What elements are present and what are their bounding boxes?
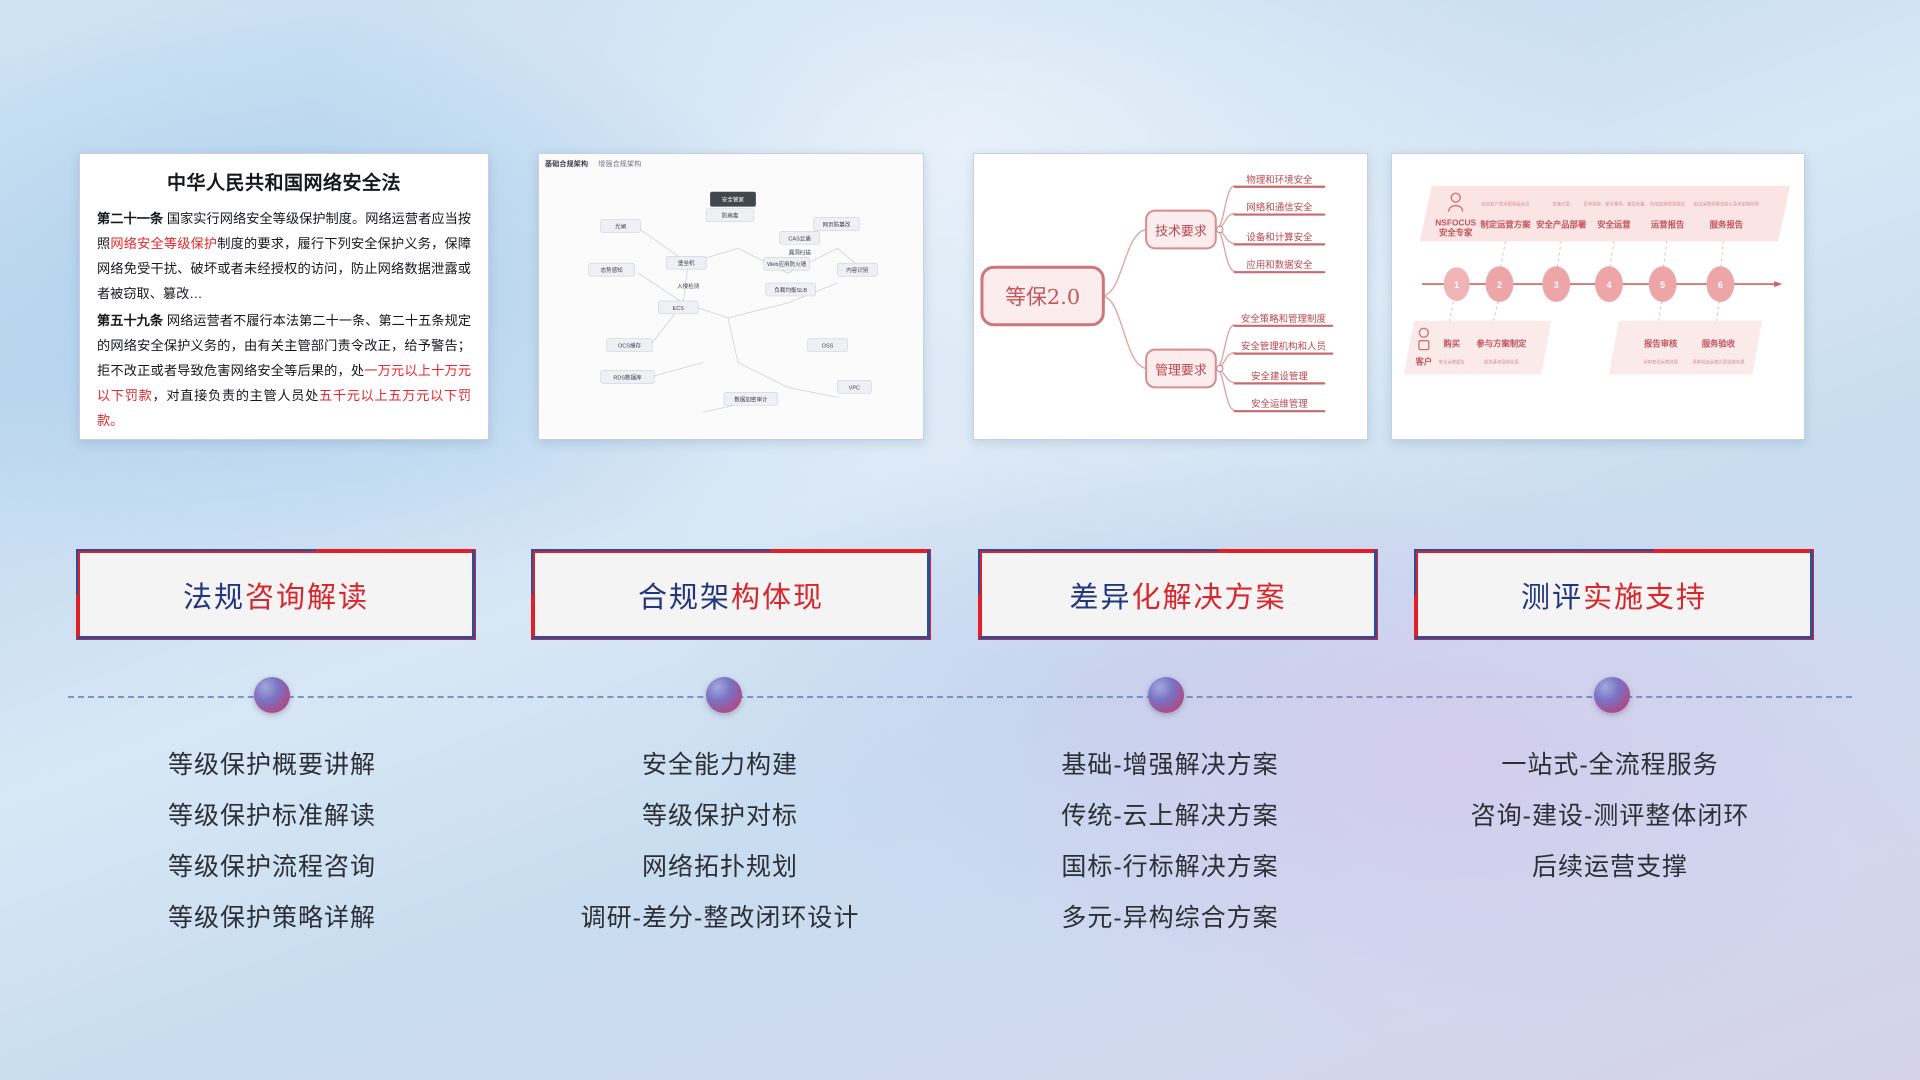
mindmap-leaf-0-3: 应用和数据安全 xyxy=(1246,259,1313,271)
card-mindmap: 等保2.0 技术要求 管理要求 物理和环境安全 网络和通信安全 设备和计算安全 … xyxy=(973,153,1368,440)
architecture-diagram: 基础合规架构增强合规架构 xyxy=(539,154,923,439)
svg-text:OSS: OSS xyxy=(822,344,834,350)
svg-text:防病毒: 防病毒 xyxy=(722,212,739,220)
timeline-marker-2[interactable] xyxy=(706,677,742,713)
timeline-svg: 1 2 3 4 5 6 NSFOCUS 安全专家 xyxy=(1392,154,1804,439)
timeline-bottom-sub-3: 评审验证运营方案验收效果 xyxy=(1692,359,1745,366)
list-item: 后续运营支撑 xyxy=(1400,842,1820,893)
mindmap-branch-label-1: 管理要求 xyxy=(1155,363,1207,378)
customer-role-label: 客户 xyxy=(1414,357,1432,367)
timeline-top-title-4: 服务报告 xyxy=(1710,219,1744,229)
timeline-marker-3[interactable] xyxy=(1148,677,1184,713)
detail-list-1: 等级保护概要讲解 等级保护标准解读 等级保护流程咨询 等级保护策略详解 xyxy=(62,740,482,944)
list-item: 网络拓扑规划 xyxy=(510,842,930,893)
svg-text:堡垒机: 堡垒机 xyxy=(678,259,695,267)
timeline-top-sub-0: 结合客户实求配明后台员 xyxy=(1481,201,1530,208)
list-item: 基础-增强解决方案 xyxy=(960,740,1380,791)
category-box-1[interactable]: 法规咨询解读 xyxy=(76,549,476,640)
timeline-step-4: 4 xyxy=(1606,280,1611,290)
vendor-role-line2: 安全专家 xyxy=(1439,227,1473,237)
category-label-2-blue: 合规架 xyxy=(638,582,731,614)
law-content: 中华人民共和国网络安全法 第二十一条 国家实行网络安全等级保护制度。网络运营者应… xyxy=(80,154,488,440)
list-item: 等级保护策略详解 xyxy=(62,893,482,944)
mindmap-leaf-0-1: 网络和通信安全 xyxy=(1246,202,1313,214)
timeline-top-title-0: 制定运营方案 xyxy=(1480,219,1531,229)
list-item: 等级保护概要讲解 xyxy=(62,740,482,791)
law-article-59-label: 第五十九条 xyxy=(97,313,163,328)
svg-text:态势感知: 态势感知 xyxy=(601,266,624,274)
category-label-3-blue: 差异 xyxy=(1069,582,1131,614)
svg-text:安全管家: 安全管家 xyxy=(722,196,745,204)
timeline-step-2: 2 xyxy=(1497,280,1502,290)
law-article-59-text-b: ，对直接负责的主管人员处 xyxy=(153,388,320,403)
mindmap-leaf-1-0: 安全策略和管理制度 xyxy=(1241,313,1327,325)
category-label-4-red: 实施支持 xyxy=(1583,582,1707,614)
detail-list-2: 安全能力构建 等级保护对标 网络拓扑规划 调研-差分-整改闭环设计 xyxy=(510,740,930,944)
category-label-3: 差异化解决方案 xyxy=(1069,574,1286,616)
timeline-rail xyxy=(68,696,1852,698)
list-item: 国标-行标解决方案 xyxy=(960,842,1380,893)
timeline-bottom-sub-2: 评审安全运营效果 xyxy=(1643,359,1679,366)
svg-text:Web应用防火墙: Web应用防火墙 xyxy=(767,260,807,268)
svg-text:数据加密审计: 数据加密审计 xyxy=(734,395,768,403)
timeline-bottom-title-2: 报告审核 xyxy=(1644,339,1678,349)
timeline-top-sub-4: 给出运营效果总结以及本定期效果 xyxy=(1694,201,1760,208)
law-article-21-label: 第二十一条 xyxy=(97,211,163,226)
svg-text:光闸: 光闸 xyxy=(615,222,627,230)
mindmap-branch-node-0: 技术要求 xyxy=(1146,211,1216,249)
timeline-step-1: 1 xyxy=(1454,280,1459,290)
timeline-bottom-title-3: 服务验收 xyxy=(1702,339,1736,349)
timeline-marker-4[interactable] xyxy=(1594,677,1630,713)
timeline-top-sub-3: 形成定期效果报告 xyxy=(1650,201,1686,208)
category-box-3[interactable]: 差异化解决方案 xyxy=(978,549,1378,640)
timeline-arrow-icon xyxy=(1774,281,1782,287)
svg-text:漏洞扫描: 漏洞扫描 xyxy=(789,248,812,256)
timeline-step-5: 5 xyxy=(1660,280,1665,290)
svg-text:内容识别: 内容识别 xyxy=(846,266,869,274)
svg-text:网页防篡改: 网页防篡改 xyxy=(823,220,851,228)
svg-text:负载均衡SLB: 负载均衡SLB xyxy=(774,286,807,294)
mindmap-leaf-0-2: 设备和计算安全 xyxy=(1246,231,1313,243)
category-box-2[interactable]: 合规架构体现 xyxy=(531,549,931,640)
category-box-4[interactable]: 测评实施支持 xyxy=(1414,549,1814,640)
timeline-bottom-sub-0: 安全运营报告 xyxy=(1439,359,1466,366)
category-label-4: 测评实施支持 xyxy=(1521,574,1707,616)
slide-canvas: 中华人民共和国网络安全法 第二十一条 国家实行网络安全等级保护制度。网络运营者应… xyxy=(0,0,1920,1080)
architecture-svg: 安全管家 xyxy=(539,154,923,439)
service-timeline: 1 2 3 4 5 6 NSFOCUS 安全专家 xyxy=(1392,154,1804,439)
mindmap-leaf-1-1: 安全管理机构和人员 xyxy=(1241,341,1326,353)
timeline-bottom-banner-right xyxy=(1609,321,1762,375)
list-item: 一站式-全流程服务 xyxy=(1400,740,1820,791)
mindmap-root-node: 等保2.0 xyxy=(982,267,1103,325)
category-label-3-red: 化解决方案 xyxy=(1132,582,1287,614)
svg-text:入侵检测: 入侵检测 xyxy=(677,282,700,290)
list-item: 等级保护标准解读 xyxy=(62,791,482,842)
timeline-top-sub-2: 日常巡检、安全事件、紧急处置 xyxy=(1583,201,1645,208)
list-item: 多元-异构综合方案 xyxy=(960,893,1380,944)
mindmap-leaf-1-2: 安全建设管理 xyxy=(1251,370,1308,382)
list-item: 等级保护流程咨询 xyxy=(62,842,482,893)
mindmap-root-label: 等保2.0 xyxy=(1005,285,1080,309)
category-label-4-blue: 测评 xyxy=(1521,582,1583,614)
law-title: 中华人民共和国网络安全法 xyxy=(97,168,471,195)
timeline-top-title-2: 安全运营 xyxy=(1597,219,1631,229)
list-item: 安全能力构建 xyxy=(510,740,930,791)
mindmap-branch-node-1: 管理要求 xyxy=(1146,350,1216,388)
category-label-1: 法规咨询解读 xyxy=(183,574,369,616)
mindmap-svg: 等保2.0 技术要求 管理要求 物理和环境安全 网络和通信安全 设备和计算安全 … xyxy=(974,154,1367,439)
timeline-top-sub-1: 实施方案 xyxy=(1552,201,1570,208)
timeline-marker-1[interactable] xyxy=(254,677,290,713)
mindmap: 等保2.0 技术要求 管理要求 物理和环境安全 网络和通信安全 设备和计算安全 … xyxy=(974,154,1367,439)
detail-list-3: 基础-增强解决方案 传统-云上解决方案 国标-行标解决方案 多元-异构综合方案 xyxy=(960,740,1380,944)
law-article-59: 第五十九条 网络运营者不履行本法第二十一条、第二十五条规定的网络安全保护义务的，… xyxy=(97,308,471,433)
list-item: 等级保护对标 xyxy=(510,791,930,842)
card-cloud-architecture: 基础合规架构增强合规架构 xyxy=(538,153,924,440)
mindmap-leaf-1-3: 安全运维管理 xyxy=(1251,398,1308,410)
timeline-top-title-1: 安全产品部署 xyxy=(1536,219,1587,229)
law-article-21: 第二十一条 国家实行网络安全等级保护制度。网络运营者应当按照网络安全等级保护制度… xyxy=(97,206,471,306)
category-label-2-red: 构体现 xyxy=(731,582,824,614)
svg-text:RDS数据库: RDS数据库 xyxy=(613,373,642,381)
svg-text:ECS: ECS xyxy=(673,306,685,312)
list-item: 传统-云上解决方案 xyxy=(960,791,1380,842)
mindmap-branch-label-0: 技术要求 xyxy=(1155,224,1207,239)
category-label-1-red: 咨询解读 xyxy=(245,582,369,614)
list-item: 咨询-建设-测评整体闭环 xyxy=(1400,791,1820,842)
svg-text:VPC: VPC xyxy=(849,385,860,391)
svg-text:OCS缓存: OCS缓存 xyxy=(618,342,642,350)
vendor-role-line1: NSFOCUS xyxy=(1435,218,1476,228)
detail-list-4: 一站式-全流程服务 咨询-建设-测评整体闭环 后续运营支撑 xyxy=(1400,740,1820,893)
timeline-bottom-title-1: 参与方案制定 xyxy=(1475,339,1527,349)
card-law-text: 中华人民共和国网络安全法 第二十一条 国家实行网络安全等级保护制度。网络运营者应… xyxy=(79,153,489,440)
category-label-1-blue: 法规 xyxy=(183,582,245,614)
category-label-2: 合规架构体现 xyxy=(638,574,824,616)
law-article-21-highlight: 网络安全等级保护 xyxy=(110,236,217,251)
mindmap-leaf-0-0: 物理和环境安全 xyxy=(1246,174,1313,186)
card-service-timeline: 1 2 3 4 5 6 NSFOCUS 安全专家 xyxy=(1391,153,1805,440)
timeline-bottom-title-0: 购买 xyxy=(1443,339,1460,349)
timeline-step-6: 6 xyxy=(1718,280,1723,290)
timeline-top-title-3: 运营报告 xyxy=(1651,219,1685,229)
timeline-step-3: 3 xyxy=(1554,280,1559,290)
svg-text:CAS云盾: CAS云盾 xyxy=(788,235,811,242)
list-item: 调研-差分-整改闭环设计 xyxy=(510,893,930,944)
timeline-bottom-sub-1: 提供基本现状信息 xyxy=(1484,359,1520,366)
timeline-top-banner xyxy=(1420,186,1790,242)
architecture-node-primary: 安全管家 xyxy=(710,192,756,207)
